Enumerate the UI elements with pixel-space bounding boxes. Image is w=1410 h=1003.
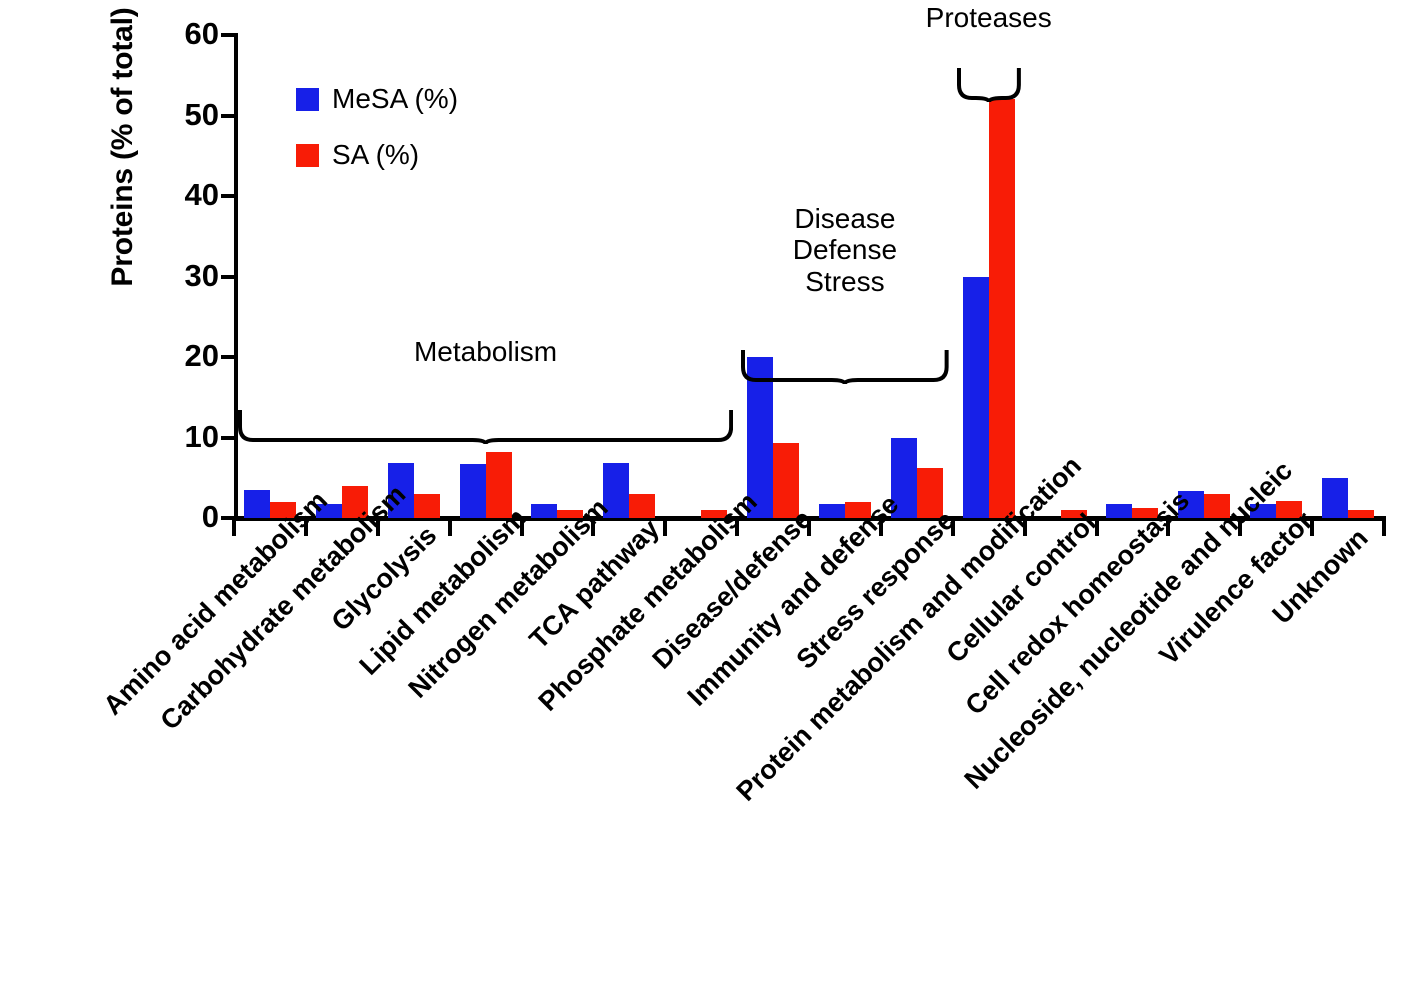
x-axis-category-labels: Amino acid metabolismCarbohydrate metabo… (0, 0, 1410, 1003)
chart-canvas: Proteins (% of total) 0102030405060 MeSA… (0, 0, 1410, 1003)
